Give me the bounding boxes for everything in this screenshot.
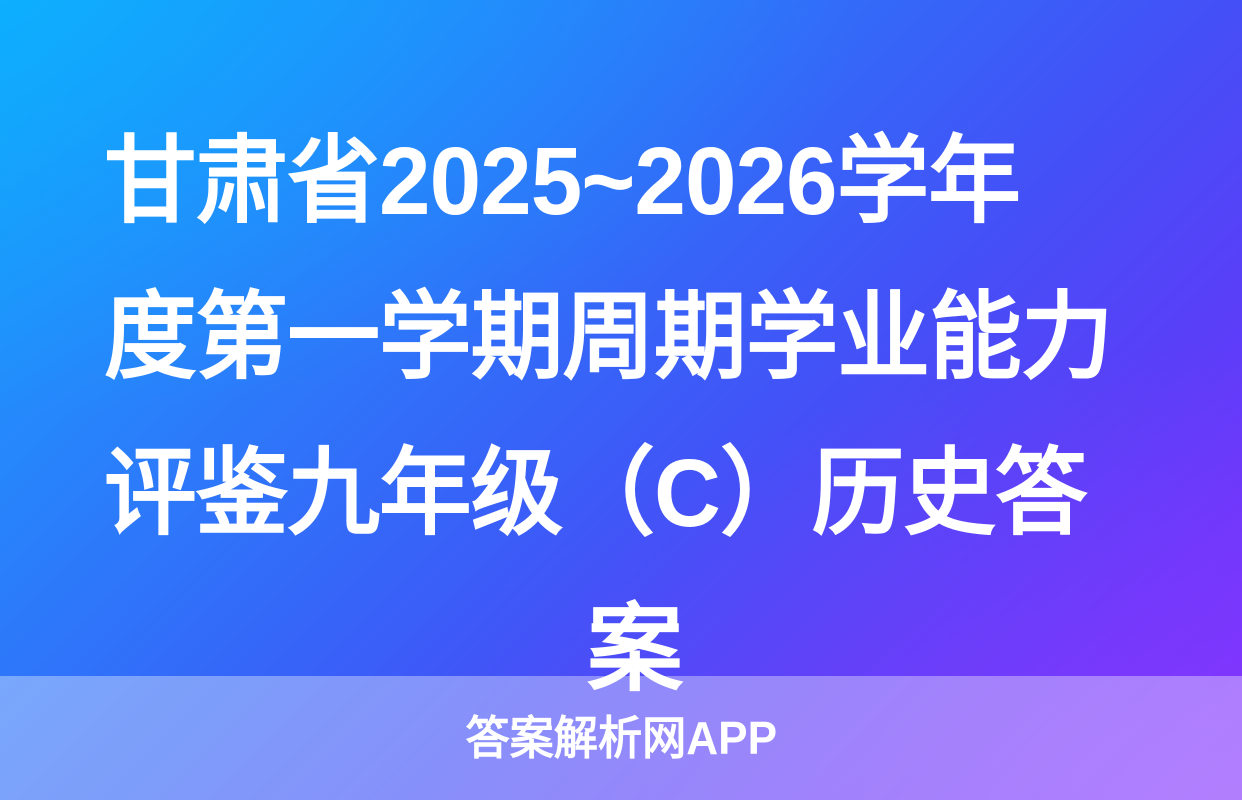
page-title: 甘肃省2025~2026学年 度第一学期周期学业能力 评鉴九年级（C）历史答 案: [104, 104, 1166, 728]
title-line-1: 甘肃省2025~2026学年: [104, 104, 1129, 260]
title-line-2: 度第一学期周期学业能力: [104, 260, 1129, 416]
title-line-3: 评鉴九年级（C）历史答: [104, 416, 1129, 572]
answer-poster: 甘肃省2025~2026学年 度第一学期周期学业能力 评鉴九年级（C）历史答 案…: [0, 0, 1242, 800]
title-line-4: 案: [104, 572, 1166, 728]
